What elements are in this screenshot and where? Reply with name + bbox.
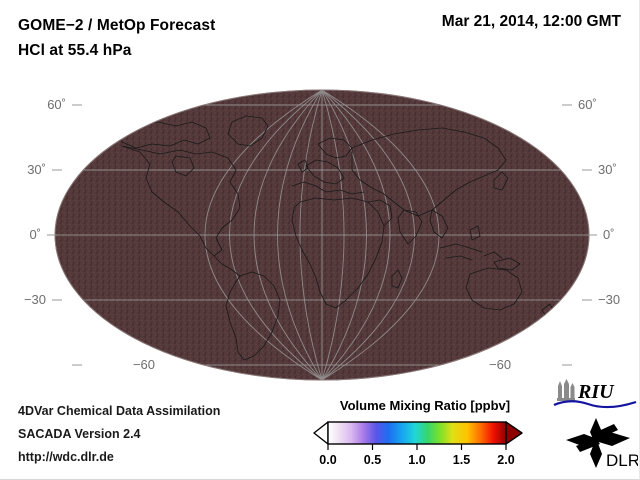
lat-label-left-30: 30˚ xyxy=(27,162,46,177)
dlr-logo-text: DLR xyxy=(606,451,638,470)
colorbar-tick-1: 0.5 xyxy=(364,453,381,467)
dlr-logo: DLR xyxy=(562,416,638,472)
riu-logo: RIU xyxy=(552,378,638,412)
colorbar-svg: 0.0 0.5 1.0 1.5 2.0 xyxy=(310,420,540,470)
riu-logo-text: RIU xyxy=(577,381,615,403)
map-svg: 60˚ 30˚ 0˚ −30 −60 60˚ 30˚ 0˚ −30 −60 xyxy=(0,60,640,390)
lat-label-right-minus60: −60 xyxy=(489,357,511,372)
colorbar-tick-2: 1.0 xyxy=(408,453,425,467)
colorbar-tick-3: 1.5 xyxy=(453,453,470,467)
map-panel: 60˚ 30˚ 0˚ −30 −60 60˚ 30˚ 0˚ −30 −60 xyxy=(0,60,640,390)
riu-towers-icon xyxy=(557,379,575,401)
colorbar-gradient xyxy=(328,422,506,444)
lat-label-left-0: 0˚ xyxy=(29,227,41,242)
page-title: GOME−2 / MetOp Forecast xyxy=(18,13,215,38)
colorbar-right-cap xyxy=(506,422,522,444)
lat-label-right-minus30: −30 xyxy=(598,292,620,307)
colorbar-tick-4: 2.0 xyxy=(497,453,514,467)
colorbar: Volume Mixing Ratio [ppbv] xyxy=(310,398,540,470)
lat-label-left-minus60: −60 xyxy=(133,357,155,372)
figure-canvas: GOME−2 / MetOp Forecast HCl at 55.4 hPa … xyxy=(0,0,640,480)
lat-label-right-30: 30˚ xyxy=(598,162,617,177)
lat-label-right-60: 60˚ xyxy=(578,97,597,112)
footer-line-method: 4DVar Chemical Data Assimilation xyxy=(18,400,220,423)
colorbar-left-cap xyxy=(314,422,328,444)
footer-block: 4DVar Chemical Data Assimilation SACADA … xyxy=(18,400,220,469)
colorbar-ticks xyxy=(328,444,506,450)
title-block: GOME−2 / MetOp Forecast HCl at 55.4 hPa xyxy=(18,13,215,63)
colorbar-title: Volume Mixing Ratio [ppbv] xyxy=(310,398,540,413)
datetime-label: Mar 21, 2014, 12:00 GMT xyxy=(442,13,621,31)
lat-label-left-60: 60˚ xyxy=(47,97,66,112)
footer-line-version: SACADA Version 2.4 xyxy=(18,423,220,446)
colorbar-tick-0: 0.0 xyxy=(319,453,336,467)
footer-line-url[interactable]: http://wdc.dlr.de xyxy=(18,446,220,469)
lat-label-left-minus30: −30 xyxy=(24,292,46,307)
lat-label-right-0: 0˚ xyxy=(603,227,615,242)
